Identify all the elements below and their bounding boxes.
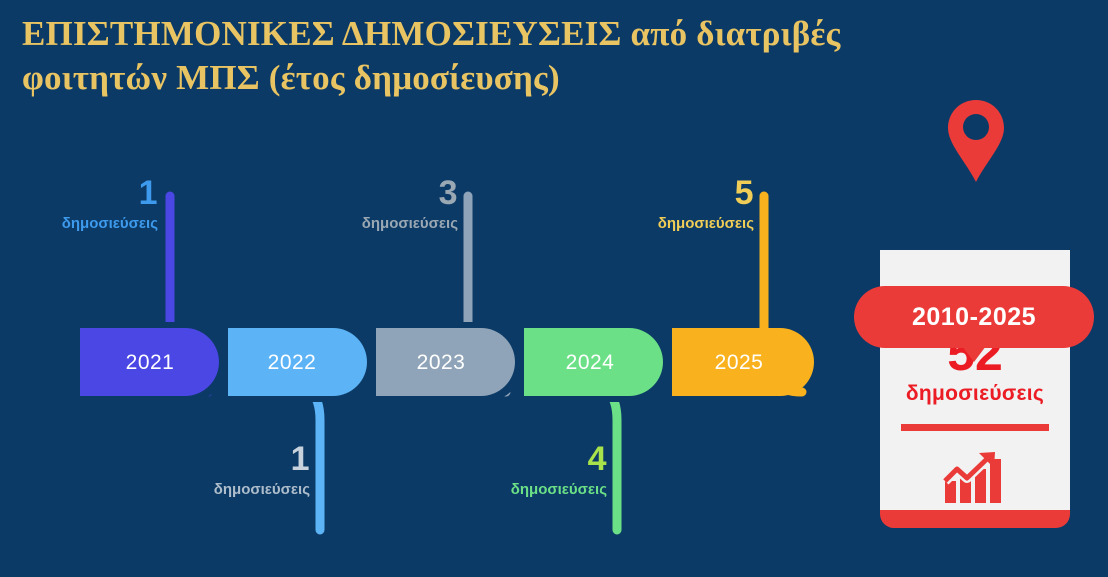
year-label-2024: 2024 — [550, 351, 630, 375]
callout-count-2023: 3 — [300, 176, 458, 210]
callout-2024: 4 δημοσιεύσεις — [449, 442, 607, 500]
callout-caption-2022: δημοσιεύσεις — [152, 480, 310, 500]
map-pin-icon — [946, 98, 1006, 184]
timeline-chart: 2021 2022 2023 2024 2025 1 δημοσιεύσεις … — [0, 0, 860, 577]
card-divider — [901, 424, 1049, 431]
summary-card: 2010-2025 52 δημοσιεύσεις — [840, 90, 1108, 550]
callout-2023: 3 δημοσιεύσεις — [300, 176, 458, 234]
callout-caption-2025: δημοσιεύσεις — [596, 214, 754, 234]
year-label-2023: 2023 — [401, 351, 481, 375]
callout-count-2021: 1 — [0, 176, 158, 210]
callout-caption-2024: δημοσιεύσεις — [449, 480, 607, 500]
total-caption: δημοσιεύσεις — [906, 382, 1044, 406]
growth-chart-icon — [943, 451, 1007, 505]
year-label-2025: 2025 — [699, 351, 779, 375]
callout-count-2024: 4 — [449, 442, 607, 476]
year-label-2022: 2022 — [252, 351, 332, 375]
callout-count-2022: 1 — [152, 442, 310, 476]
timeline-graphic — [0, 0, 860, 577]
callout-2022: 1 δημοσιεύσεις — [152, 442, 310, 500]
callout-count-2025: 5 — [596, 176, 754, 210]
callout-2025: 5 δημοσιεύσεις — [596, 176, 754, 234]
callout-2021: 1 δημοσιεύσεις — [0, 176, 158, 234]
range-label: 2010-2025 — [912, 303, 1036, 332]
callout-caption-2023: δημοσιεύσεις — [300, 214, 458, 234]
year-label-2021: 2021 — [110, 351, 190, 375]
range-badge: 2010-2025 — [854, 286, 1094, 348]
callout-caption-2021: δημοσιεύσεις — [0, 214, 158, 234]
badge-notch — [959, 342, 989, 362]
